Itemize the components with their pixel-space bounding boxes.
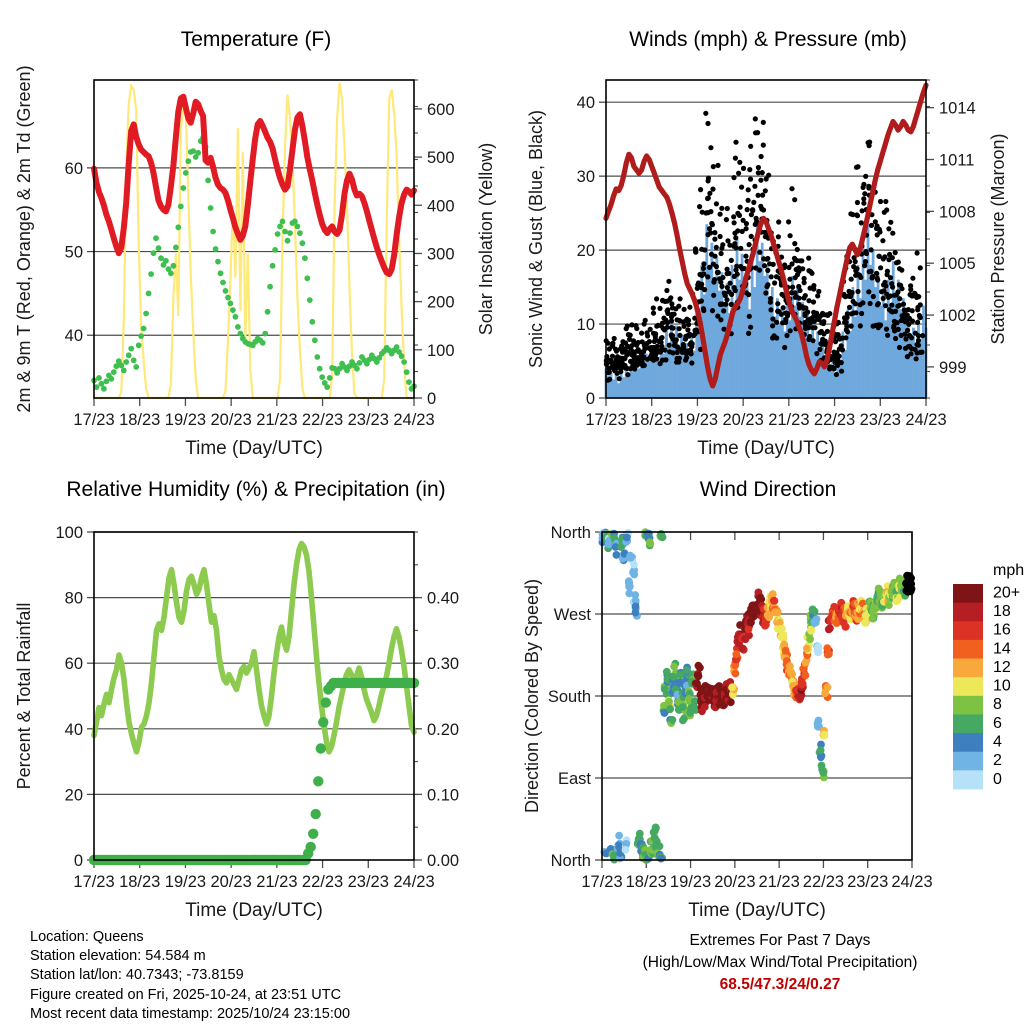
wind-direction-point bbox=[807, 627, 815, 635]
x-ticklabel: 20/23 bbox=[722, 411, 763, 429]
gust-point bbox=[839, 369, 844, 374]
total-rainfall-point bbox=[306, 842, 316, 852]
gust-point bbox=[712, 277, 717, 282]
dewpoint-point bbox=[319, 374, 325, 380]
y-ticklabel: 50 bbox=[65, 244, 83, 262]
gust-point bbox=[744, 221, 749, 226]
wind-direction-point bbox=[690, 703, 698, 711]
gust-point bbox=[662, 348, 667, 353]
gust-point bbox=[853, 310, 858, 315]
gust-point bbox=[793, 258, 798, 263]
dewpoint-point bbox=[235, 324, 241, 330]
gust-point bbox=[761, 143, 766, 148]
x-ticklabel: 22/23 bbox=[803, 873, 844, 891]
solar-insolation-line bbox=[94, 82, 412, 398]
colorbar-ticklabel: 18 bbox=[993, 603, 1011, 620]
gust-point bbox=[816, 289, 821, 294]
gust-point bbox=[619, 361, 624, 366]
gust-point bbox=[639, 331, 644, 336]
wind-direction-point bbox=[665, 698, 673, 706]
gust-point bbox=[661, 316, 666, 321]
wind-direction-point bbox=[695, 662, 703, 670]
gust-point bbox=[807, 334, 812, 339]
dewpoint-point bbox=[312, 337, 318, 343]
wind-direction-point bbox=[817, 753, 825, 761]
dewpoint-point bbox=[230, 307, 236, 313]
metadata-elevation: Station elevation: 54.584 m bbox=[30, 947, 350, 966]
wind-direction-point bbox=[679, 703, 687, 711]
dewpoint-point bbox=[175, 224, 181, 230]
gust-point bbox=[746, 292, 751, 297]
gust-point bbox=[874, 271, 879, 276]
gust-point bbox=[665, 325, 670, 330]
gust-point bbox=[806, 298, 811, 303]
gust-point bbox=[709, 221, 714, 226]
gust-point bbox=[908, 283, 913, 288]
gust-point bbox=[699, 298, 704, 303]
gust-point bbox=[743, 254, 748, 259]
gust-point bbox=[885, 333, 890, 338]
gust-point bbox=[705, 121, 710, 126]
gust-point bbox=[745, 207, 750, 212]
gust-point bbox=[868, 269, 873, 274]
gust-point bbox=[910, 319, 915, 324]
gust-point bbox=[775, 309, 780, 314]
gust-point bbox=[747, 242, 752, 247]
gust-point bbox=[888, 220, 893, 225]
gust-point bbox=[733, 235, 738, 240]
x-ticklabel: 24/23 bbox=[393, 411, 434, 429]
gust-point bbox=[631, 338, 636, 343]
gust-point bbox=[715, 314, 720, 319]
gust-point bbox=[863, 249, 868, 254]
gust-point bbox=[775, 301, 780, 306]
gust-point bbox=[699, 282, 704, 287]
gust-point bbox=[705, 274, 710, 279]
gust-point bbox=[795, 247, 800, 252]
gust-point bbox=[793, 290, 798, 295]
gust-point bbox=[896, 260, 901, 265]
gust-point bbox=[733, 288, 738, 293]
gust-point bbox=[762, 263, 767, 268]
relative-humidity-line bbox=[94, 544, 414, 752]
gust-point bbox=[678, 296, 683, 301]
gust-point bbox=[849, 324, 854, 329]
x-ticklabel: 19/23 bbox=[677, 411, 718, 429]
gust-point bbox=[796, 284, 801, 289]
gust-point bbox=[886, 226, 891, 231]
gust-point bbox=[893, 250, 898, 255]
y-right-ticklabel: 999 bbox=[939, 359, 967, 377]
gust-point bbox=[624, 326, 629, 331]
y-ticklabel: 100 bbox=[55, 524, 83, 542]
gust-point bbox=[823, 339, 828, 344]
sonic-wind-bar bbox=[864, 280, 867, 398]
gust-point bbox=[752, 184, 757, 189]
sonic-wind-bar bbox=[819, 350, 822, 398]
dewpoint-point bbox=[215, 259, 221, 265]
x-ticklabel: 22/23 bbox=[814, 411, 855, 429]
gust-point bbox=[712, 230, 717, 235]
wind-direction-chart: NorthWestSouthEastNorth17/2318/2319/2320… bbox=[512, 460, 1024, 920]
dewpoint-point bbox=[213, 246, 219, 252]
panel-winds-title: Winds (mph) & Pressure (mb) bbox=[512, 28, 1024, 52]
dewpoint-point bbox=[205, 178, 211, 184]
dewpoint-point bbox=[109, 376, 115, 382]
sonic-wind-bar bbox=[879, 306, 882, 398]
dewpoint-point bbox=[267, 284, 273, 290]
gust-point bbox=[797, 296, 802, 301]
sonic-wind-bar bbox=[622, 377, 625, 398]
dewpoint-point bbox=[300, 240, 306, 246]
gust-point bbox=[776, 219, 781, 224]
gust-point bbox=[689, 360, 694, 365]
sonic-wind-bar bbox=[889, 309, 892, 398]
sonic-wind-bar bbox=[612, 380, 615, 398]
wind-direction-point bbox=[663, 668, 671, 676]
dewpoint-point bbox=[141, 326, 147, 332]
gust-point bbox=[719, 251, 724, 256]
colorbar-ticklabel: 6 bbox=[993, 715, 1002, 732]
panel-humidity-title: Relative Humidity (%) & Precipitation (i… bbox=[0, 478, 512, 502]
gust-point bbox=[712, 254, 717, 259]
gust-point bbox=[908, 351, 913, 356]
gust-point bbox=[781, 305, 786, 310]
gust-point bbox=[800, 266, 805, 271]
dewpoint-point bbox=[126, 352, 132, 358]
sonic-wind-bar bbox=[743, 294, 746, 398]
x-axis-label: Time (Day/UTC) bbox=[688, 900, 826, 920]
gust-point bbox=[811, 338, 816, 343]
dewpoint-point bbox=[260, 340, 266, 346]
gust-point bbox=[915, 250, 920, 255]
dewpoint-point bbox=[233, 314, 239, 320]
dewpoint-point bbox=[123, 359, 129, 365]
y-ticklabel: 0 bbox=[586, 390, 595, 408]
x-ticklabel: 20/23 bbox=[210, 873, 251, 891]
colorbar-band bbox=[953, 677, 983, 696]
x-ticklabel: 17/23 bbox=[585, 411, 626, 429]
gust-point bbox=[748, 325, 753, 330]
dewpoint-point bbox=[185, 158, 191, 164]
dewpoint-point bbox=[136, 342, 142, 348]
dewpoint-point bbox=[228, 301, 234, 307]
gust-point bbox=[769, 274, 774, 279]
gust-point bbox=[811, 299, 816, 304]
gust-point bbox=[711, 164, 716, 169]
gust-point bbox=[790, 285, 795, 290]
gust-point bbox=[788, 328, 793, 333]
y-right-ticklabel: 1014 bbox=[939, 100, 976, 118]
x-ticklabel: 22/23 bbox=[302, 873, 343, 891]
gust-point bbox=[798, 258, 803, 263]
gust-point bbox=[685, 327, 690, 332]
gust-point bbox=[708, 209, 713, 214]
dewpoint-point bbox=[302, 255, 308, 261]
gust-point bbox=[698, 187, 703, 192]
dewpoint-point bbox=[156, 245, 162, 251]
dewpoint-point bbox=[99, 381, 105, 387]
gust-point bbox=[721, 308, 726, 313]
gust-point bbox=[839, 343, 844, 348]
gust-point bbox=[701, 261, 706, 266]
humidity-chart: 0204060801000.000.100.200.300.4017/2318/… bbox=[0, 460, 512, 920]
sonic-wind-bar bbox=[698, 331, 701, 398]
gust-point bbox=[806, 256, 811, 261]
gust-point bbox=[623, 340, 628, 345]
dewpoint-point bbox=[121, 368, 127, 374]
y-ticklabel: 40 bbox=[65, 721, 83, 739]
gust-point bbox=[765, 256, 770, 261]
total-rainfall-point bbox=[321, 697, 331, 707]
y-ticklabel: North bbox=[551, 524, 591, 542]
gust-point bbox=[726, 271, 731, 276]
y-right-ticklabel: 300 bbox=[427, 245, 455, 263]
wind-direction-point bbox=[670, 663, 678, 671]
gust-point bbox=[651, 305, 656, 310]
dewpoint-point bbox=[292, 219, 298, 225]
gust-point bbox=[657, 306, 662, 311]
dewpoint-point bbox=[104, 378, 110, 384]
y-axis-label: Percent & Total Rainfall bbox=[14, 603, 34, 790]
gust-point bbox=[607, 377, 612, 382]
gust-point bbox=[747, 314, 752, 319]
y-ticklabel: 20 bbox=[65, 786, 83, 804]
sonic-wind-bar bbox=[637, 368, 640, 398]
wind-direction-point bbox=[770, 597, 778, 605]
y-ticklabel: East bbox=[558, 770, 591, 788]
gust-point bbox=[772, 333, 777, 338]
wind-direction-point bbox=[802, 659, 810, 667]
wind-direction-point bbox=[622, 846, 630, 854]
gust-point bbox=[677, 333, 682, 338]
gust-point bbox=[901, 302, 906, 307]
gust-point bbox=[772, 280, 777, 285]
colorbar-band bbox=[953, 584, 983, 603]
x-ticklabel: 21/23 bbox=[256, 411, 297, 429]
gust-point bbox=[740, 229, 745, 234]
gust-point bbox=[918, 315, 923, 320]
dewpoint-point bbox=[324, 384, 330, 390]
gust-point bbox=[693, 250, 698, 255]
gust-point bbox=[634, 343, 639, 348]
colorbar-band bbox=[953, 621, 983, 640]
sonic-wind-bar bbox=[665, 328, 668, 398]
sonic-wind-bar bbox=[652, 360, 655, 398]
gust-point bbox=[755, 130, 760, 135]
gust-point bbox=[842, 315, 847, 320]
y-right-ticklabel: 1002 bbox=[939, 307, 976, 325]
gust-point bbox=[651, 311, 656, 316]
extremes-block: Extremes For Past 7 Days (High/Low/Max W… bbox=[560, 930, 1000, 996]
dewpoint-point bbox=[285, 238, 291, 244]
y-right-ticklabel: 0.30 bbox=[427, 655, 459, 673]
dewpoint-point bbox=[314, 354, 320, 360]
colorbar-band bbox=[953, 659, 983, 678]
dewpoint-point bbox=[282, 229, 288, 235]
dewpoint-point bbox=[190, 148, 196, 154]
gust-point bbox=[884, 207, 889, 212]
dewpoint-point bbox=[357, 360, 363, 366]
wind-direction-point bbox=[670, 673, 678, 681]
gust-point bbox=[708, 145, 713, 150]
gust-point bbox=[918, 265, 923, 270]
gust-point bbox=[729, 258, 734, 263]
gust-point bbox=[660, 358, 665, 363]
y-right-ticklabel: 400 bbox=[427, 197, 455, 215]
dewpoint-point bbox=[327, 375, 333, 381]
gust-point bbox=[733, 140, 738, 145]
gust-point bbox=[612, 336, 617, 341]
gust-point bbox=[768, 296, 773, 301]
gust-point bbox=[814, 351, 819, 356]
sonic-wind-bar bbox=[751, 250, 754, 398]
wind-direction-point bbox=[817, 746, 825, 754]
gust-point bbox=[672, 340, 677, 345]
gust-point bbox=[849, 277, 854, 282]
gust-point bbox=[719, 206, 724, 211]
dewpoint-point bbox=[168, 270, 174, 276]
total-rainfall-point bbox=[316, 743, 326, 753]
colorbar-ticklabel: 16 bbox=[993, 622, 1011, 639]
y-ticklabel: 80 bbox=[65, 590, 83, 608]
dewpoint-point bbox=[218, 270, 224, 276]
wind-direction-point bbox=[652, 824, 660, 832]
total-rainfall-point bbox=[313, 776, 323, 786]
x-ticklabel: 18/23 bbox=[119, 411, 160, 429]
temperature-2m-line bbox=[94, 97, 414, 274]
dewpoint-point bbox=[404, 369, 410, 375]
wind-direction-point bbox=[695, 672, 703, 680]
gust-point bbox=[701, 266, 706, 271]
colorbar-band bbox=[953, 603, 983, 622]
dewpoint-point bbox=[151, 250, 157, 256]
gust-point bbox=[910, 276, 915, 281]
gust-point bbox=[714, 201, 719, 206]
dewpoint-point bbox=[180, 185, 186, 191]
x-ticklabel: 24/23 bbox=[891, 873, 932, 891]
gust-point bbox=[868, 301, 873, 306]
gust-point bbox=[869, 247, 874, 252]
wind-direction-point bbox=[629, 569, 637, 577]
gust-point bbox=[751, 200, 756, 205]
x-ticklabel: 21/23 bbox=[768, 411, 809, 429]
sonic-wind-bar bbox=[844, 350, 847, 398]
x-axis-label: Time (Day/UTC) bbox=[697, 438, 835, 459]
panel-winds: Winds (mph) & Pressure (mb) 010203040999… bbox=[512, 10, 1024, 460]
gust-point bbox=[878, 199, 883, 204]
dewpoint-point bbox=[101, 386, 107, 392]
gust-point bbox=[729, 292, 734, 297]
sonic-wind-bar bbox=[632, 372, 635, 398]
gust-point bbox=[655, 344, 660, 349]
gust-point bbox=[753, 116, 758, 121]
gust-point bbox=[715, 163, 720, 168]
wind-direction-point bbox=[809, 606, 817, 614]
colorbar-band bbox=[953, 752, 983, 771]
gust-point bbox=[889, 303, 894, 308]
gust-point bbox=[914, 356, 919, 361]
gust-point bbox=[667, 343, 672, 348]
metadata-recent-timestamp: Most recent data timestamp: 2025/10/24 2… bbox=[30, 1005, 350, 1024]
gust-point bbox=[784, 333, 789, 338]
wind-direction-point bbox=[814, 643, 822, 651]
gust-point bbox=[821, 321, 826, 326]
sonic-wind-bar bbox=[647, 361, 650, 398]
gust-point bbox=[725, 206, 730, 211]
gust-point bbox=[883, 283, 888, 288]
metadata-figure-created: Figure created on Fri, 2025-10-24, at 23… bbox=[30, 986, 350, 1005]
gust-point bbox=[647, 339, 652, 344]
gust-point bbox=[854, 165, 859, 170]
colorbar-ticklabel: 4 bbox=[993, 734, 1002, 751]
panel-wind-direction: Wind Direction NorthWestSouthEastNorth17… bbox=[512, 460, 1024, 920]
metadata-latlon: Station lat/lon: 40.7343; -73.8159 bbox=[30, 966, 350, 985]
dewpoint-point bbox=[111, 369, 117, 375]
gust-point bbox=[666, 279, 671, 284]
gust-point bbox=[665, 307, 670, 312]
gust-point bbox=[687, 305, 692, 310]
gust-point bbox=[607, 346, 612, 351]
gust-point bbox=[677, 326, 682, 331]
gust-point bbox=[855, 213, 860, 218]
gust-point bbox=[719, 284, 724, 289]
x-ticklabel: 20/23 bbox=[210, 411, 251, 429]
metadata-location: Location: Queens bbox=[30, 928, 350, 947]
gust-point bbox=[723, 302, 728, 307]
y-ticklabel: 0 bbox=[74, 852, 83, 870]
dewpoint-point bbox=[265, 309, 271, 315]
gust-point bbox=[654, 296, 659, 301]
wind-direction-point bbox=[657, 530, 665, 538]
station-metadata: Location: Queens Station elevation: 54.5… bbox=[30, 928, 350, 1024]
x-ticklabel: 19/23 bbox=[670, 873, 711, 891]
x-ticklabel: 17/23 bbox=[73, 873, 114, 891]
gust-point bbox=[681, 324, 686, 329]
dewpoint-point bbox=[163, 258, 169, 264]
dewpoint-point bbox=[173, 245, 179, 251]
gust-point bbox=[871, 294, 876, 299]
gust-point bbox=[670, 333, 675, 338]
gust-point bbox=[758, 178, 763, 183]
gust-point bbox=[897, 296, 902, 301]
gust-point bbox=[875, 232, 880, 237]
wind-direction-point bbox=[826, 624, 834, 632]
sonic-wind-bar bbox=[773, 317, 776, 398]
wind-direction-point bbox=[728, 684, 736, 692]
dewpoint-point bbox=[223, 288, 229, 294]
dewpoint-point bbox=[309, 319, 315, 325]
gust-point bbox=[776, 234, 781, 239]
y-axis-label: 2m & 9m T (Red, Orange) & 2m Td (Green) bbox=[14, 65, 34, 412]
gust-point bbox=[916, 343, 921, 348]
gust-point bbox=[853, 259, 858, 264]
gust-point bbox=[737, 213, 742, 218]
panel-wind-direction-title: Wind Direction bbox=[512, 478, 1024, 502]
sonic-wind-bar bbox=[693, 351, 696, 398]
gust-point bbox=[834, 351, 839, 356]
y-ticklabel: 40 bbox=[577, 94, 595, 112]
gust-point bbox=[878, 265, 883, 270]
gust-point bbox=[703, 111, 708, 116]
gust-point bbox=[803, 293, 808, 298]
x-ticklabel: 20/23 bbox=[714, 873, 755, 891]
dewpoint-point bbox=[131, 357, 137, 363]
gust-point bbox=[738, 246, 743, 251]
gust-point bbox=[648, 327, 653, 332]
sonic-wind-bar bbox=[625, 367, 628, 398]
gust-point bbox=[881, 296, 886, 301]
